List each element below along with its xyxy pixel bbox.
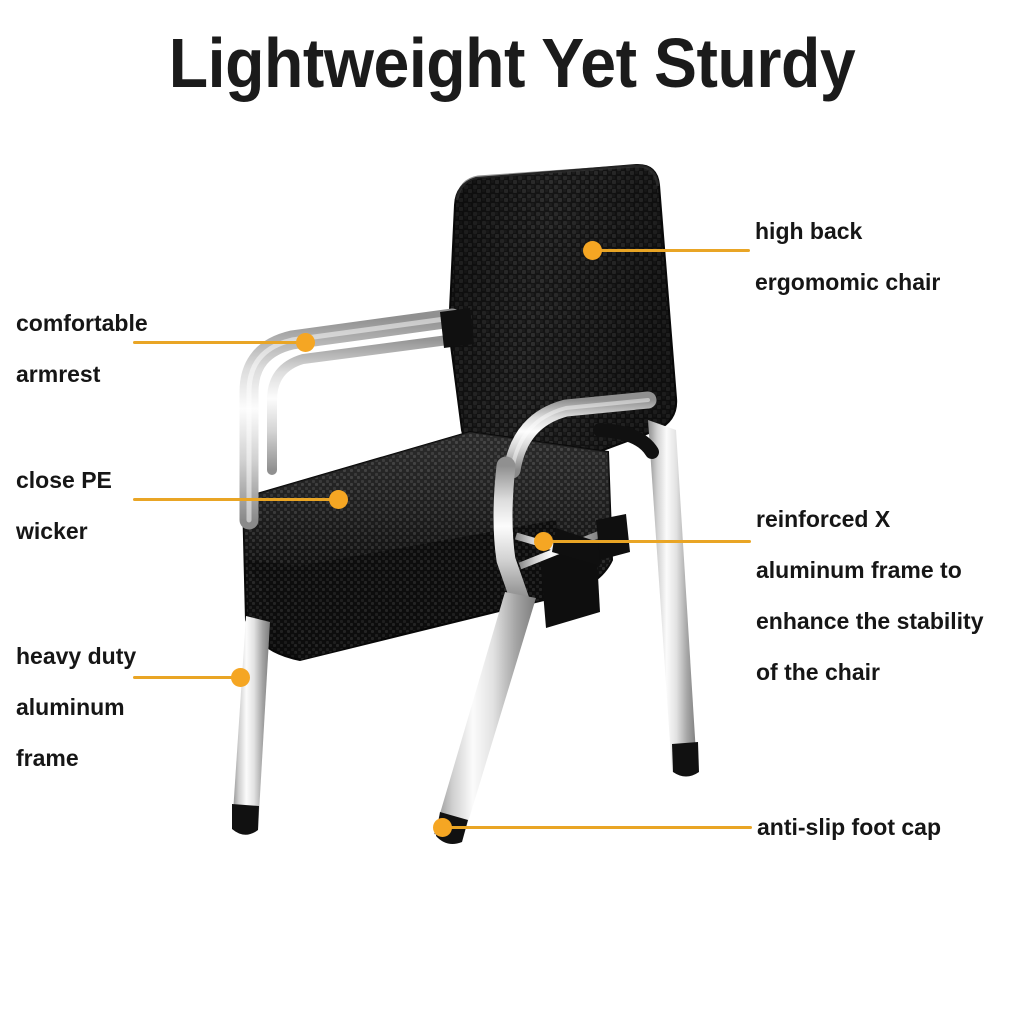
anti-slip-foot-cap-left <box>232 804 259 835</box>
leader-line-comfortable-armrest <box>133 341 305 344</box>
leader-line-heavy-duty-aluminum-frame <box>133 676 240 679</box>
callout-line: of the chair <box>756 659 984 686</box>
callout-line: high back <box>755 218 940 245</box>
callout-heavy-duty-aluminum-frame: heavy dutyaluminumframe <box>16 643 136 772</box>
callout-dot-high-back <box>583 241 602 260</box>
callout-line: ergomomic chair <box>755 269 940 296</box>
callout-line: frame <box>16 745 136 772</box>
callout-close-pe-wicker: close PEwicker <box>16 467 112 545</box>
callout-comfortable-armrest: comfortablearmrest <box>16 310 148 388</box>
callout-line: heavy duty <box>16 643 136 670</box>
callout-line: aluminum <box>16 694 136 721</box>
leader-line-close-pe-wicker <box>133 498 338 501</box>
leader-line-anti-slip-foot-cap <box>450 826 752 829</box>
callout-anti-slip-foot-cap: anti-slip foot cap <box>757 814 941 841</box>
callout-dot-reinforced-x-frame <box>534 532 553 551</box>
callout-dot-heavy-duty-aluminum-frame <box>231 668 250 687</box>
chair-leg-rear-right <box>648 420 699 777</box>
callout-line: close PE <box>16 467 112 494</box>
callout-line: wicker <box>16 518 112 545</box>
callout-high-back: high backergomomic chair <box>755 218 940 296</box>
chair-leg-front-left <box>232 616 270 835</box>
callout-dot-close-pe-wicker <box>329 490 348 509</box>
leader-line-reinforced-x-frame <box>551 540 751 543</box>
leader-line-high-back <box>600 249 750 252</box>
callout-reinforced-x-frame: reinforced Xaluminum frame toenhance the… <box>756 506 984 686</box>
chair-backrest <box>449 165 676 466</box>
callout-dot-anti-slip-foot-cap <box>433 818 452 837</box>
product-infographic: Lightweight Yet Sturdy <box>0 0 1024 1024</box>
callout-line: enhance the stability <box>756 608 984 635</box>
callout-line: aluminum frame to <box>756 557 984 584</box>
callout-line: armrest <box>16 361 148 388</box>
callout-line: comfortable <box>16 310 148 337</box>
callout-line: anti-slip foot cap <box>757 814 941 841</box>
chair-leg-front-right <box>434 592 536 844</box>
callout-dot-comfortable-armrest <box>296 333 315 352</box>
chair-group <box>232 165 699 844</box>
callout-line: reinforced X <box>756 506 984 533</box>
